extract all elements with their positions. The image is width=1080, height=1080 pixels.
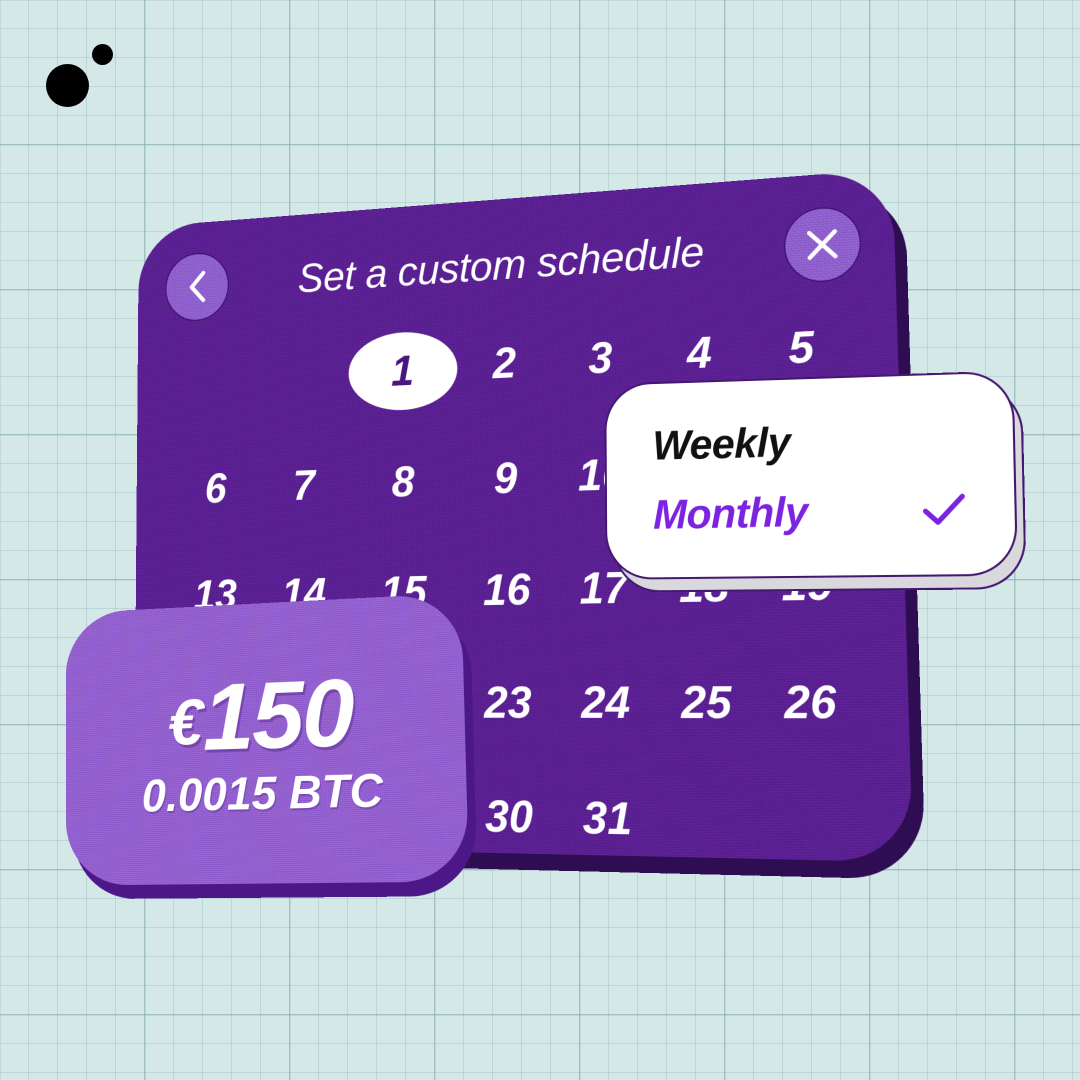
check-icon <box>921 492 967 527</box>
fiat-amount-value: 150 <box>202 659 353 770</box>
calendar-day-7[interactable]: 7 <box>262 448 346 523</box>
currency-symbol: € <box>168 685 201 759</box>
frequency-option-monthly[interactable]: Monthly <box>653 478 967 546</box>
calendar-day-24[interactable]: 24 <box>559 664 653 742</box>
calendar-day-30[interactable]: 30 <box>463 778 555 857</box>
calendar-day-23[interactable]: 23 <box>463 664 554 741</box>
calendar-day-16[interactable]: 16 <box>462 551 553 628</box>
frequency-option-weekly[interactable]: Weekly <box>652 407 966 477</box>
page-title: Set a custom schedule <box>229 223 785 308</box>
logo-dot-small <box>92 44 113 65</box>
calendar-day-8[interactable]: 8 <box>360 444 447 521</box>
calendar-day-2[interactable]: 2 <box>460 324 550 403</box>
chevron-left-icon <box>185 269 208 304</box>
amount-card[interactable]: €150 0.0015 BTC <box>66 593 469 886</box>
fiat-amount: €150 <box>168 665 354 767</box>
two-dot-logo <box>40 38 118 108</box>
frequency-option-label: Weekly <box>652 419 790 470</box>
frequency-dropdown[interactable]: Weekly Monthly <box>604 370 1018 579</box>
back-button[interactable] <box>165 251 229 323</box>
amount-card-container: €150 0.0015 BTC <box>66 593 469 886</box>
frequency-option-label: Monthly <box>653 488 808 539</box>
crypto-amount: 0.0015 BTC <box>142 767 384 819</box>
close-x-icon <box>804 226 841 263</box>
calendar-day-9[interactable]: 9 <box>461 439 551 517</box>
frequency-dropdown-container: Weekly Monthly <box>604 370 1018 579</box>
calendar-day-1[interactable]: 1 <box>349 329 458 412</box>
calendar-day-6[interactable]: 6 <box>175 451 257 525</box>
calendar-day-26[interactable]: 26 <box>760 662 861 743</box>
close-button[interactable] <box>783 205 862 284</box>
calendar-day-25[interactable]: 25 <box>658 663 756 742</box>
logo-dot-large <box>46 64 89 107</box>
calendar-day-31[interactable]: 31 <box>560 779 655 859</box>
